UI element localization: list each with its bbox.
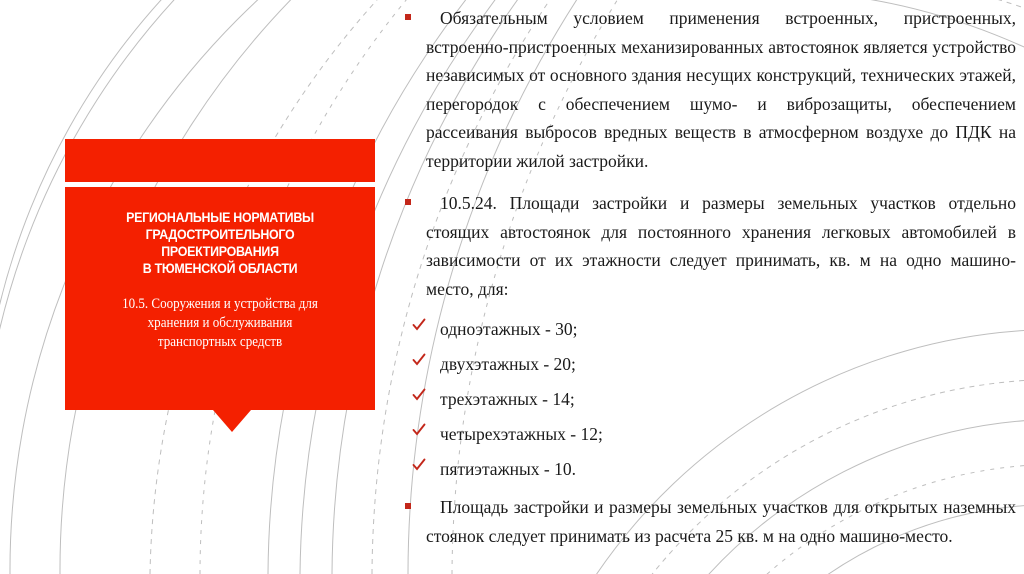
- list-item-label: пятиэтажных - 10.: [440, 459, 576, 479]
- checkmark-icon: [412, 388, 426, 402]
- slide: РЕГИОНАЛЬНЫЕ НОРМАТИВЫ ГРАДОСТРОИТЕЛЬНОГ…: [0, 0, 1024, 574]
- paragraph-text: Обязательным условием применения встроен…: [426, 8, 1016, 171]
- page-subtitle: 10.5. Сооружения и устройства для хранен…: [95, 295, 345, 352]
- list-item: пятиэтажных - 10.: [402, 457, 1016, 481]
- callout-body: РЕГИОНАЛЬНЫЕ НОРМАТИВЫ ГРАДОСТРОИТЕЛЬНОГ…: [65, 187, 375, 410]
- callout-top-bar: [65, 139, 375, 182]
- list-item: четырехэтажных - 12;: [402, 422, 1016, 446]
- page-title: РЕГИОНАЛЬНЫЕ НОРМАТИВЫ ГРАДОСТРОИТЕЛЬНОГ…: [92, 209, 348, 277]
- body-text-column: Обязательным условием применения встроен…: [402, 0, 1016, 574]
- list-item: двухэтажных - 20;: [402, 352, 1016, 376]
- checkmark-icon: [412, 423, 426, 437]
- checkmark-icon: [412, 458, 426, 472]
- paragraph-clause-10-5-24: 10.5.24. Площади застройки и размеры зем…: [402, 189, 1016, 303]
- callout-pointer-triangle: [213, 410, 251, 432]
- checkmark-icon: [412, 318, 426, 332]
- list-item: трехэтажных - 14;: [402, 387, 1016, 411]
- square-bullet-icon: [405, 199, 411, 205]
- paragraph-open-parking: Площадь застройки и размеры земельных уч…: [402, 493, 1016, 550]
- checkmark-icon: [412, 353, 426, 367]
- list-item-label: трехэтажных - 14;: [440, 389, 575, 409]
- storey-area-list: одноэтажных - 30; двухэтажных - 20; трех…: [402, 317, 1016, 481]
- title-callout-card: РЕГИОНАЛЬНЫЕ НОРМАТИВЫ ГРАДОСТРОИТЕЛЬНОГ…: [65, 139, 375, 410]
- square-bullet-icon: [405, 14, 411, 20]
- paragraph-text: Площадь застройки и размеры земельных уч…: [426, 497, 1016, 546]
- paragraph-requirements: Обязательным условием применения встроен…: [402, 4, 1016, 175]
- list-item-label: двухэтажных - 20;: [440, 354, 576, 374]
- paragraph-text: 10.5.24. Площади застройки и размеры зем…: [426, 193, 1016, 299]
- square-bullet-icon: [405, 503, 411, 509]
- list-item-label: четырехэтажных - 12;: [440, 424, 603, 444]
- list-item: одноэтажных - 30;: [402, 317, 1016, 341]
- list-item-label: одноэтажных - 30;: [440, 319, 578, 339]
